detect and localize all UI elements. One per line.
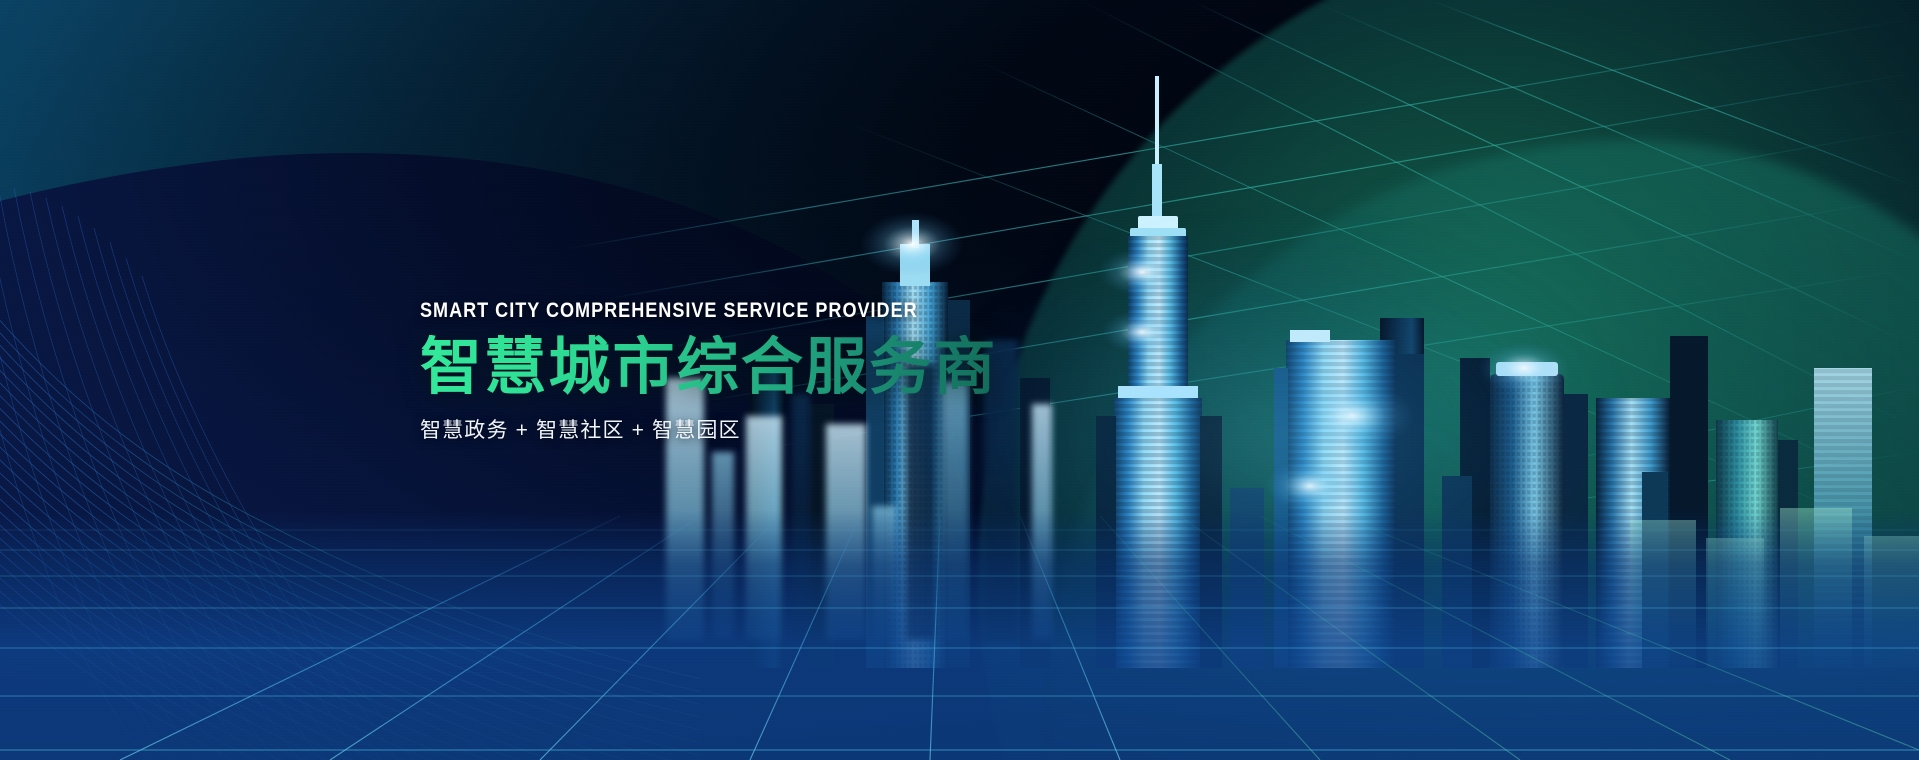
hero-headline-chinese: 智慧城市综合服务商 — [420, 335, 1180, 401]
hero-copy-block: SMART CITY COMPREHENSIVE SERVICE PROVIDE… — [420, 300, 1180, 444]
hero-eyebrow-english: SMART CITY COMPREHENSIVE SERVICE PROVIDE… — [420, 300, 1074, 321]
smart-city-hero-banner: SMART CITY COMPREHENSIVE SERVICE PROVIDE… — [0, 0, 1919, 760]
perspective-grid-ground — [0, 510, 1919, 760]
hero-subline-services: 智慧政务 + 智慧社区 + 智慧园区 — [420, 417, 1180, 444]
